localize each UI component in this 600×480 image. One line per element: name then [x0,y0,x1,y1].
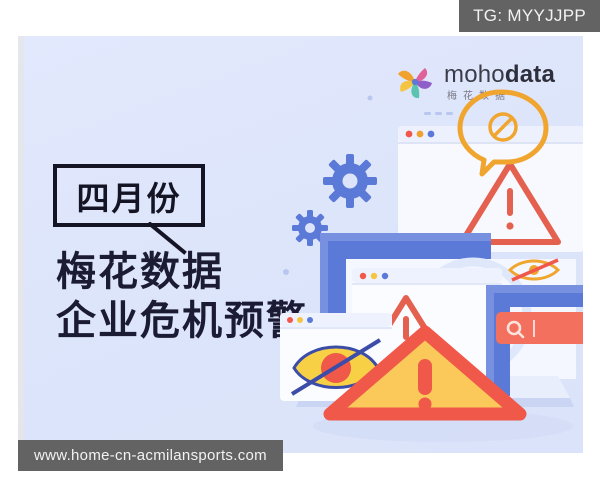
search-bar [496,312,583,344]
crisis-warning-illustration [258,76,583,453]
month-badge-label: 四月份 [57,168,201,223]
tg-watermark: TG: MYYJJPP [459,0,600,32]
month-badge: 四月份 [53,164,205,227]
poster-card: mohodata 梅花数据 四月份 梅花数据 企业危机预警 [18,36,583,453]
url-watermark: www.home-cn-acmilansports.com [18,440,283,471]
poster-screenshot: mohodata 梅花数据 四月份 梅花数据 企业危机预警 [0,0,600,480]
gear-large-icon [323,154,377,208]
